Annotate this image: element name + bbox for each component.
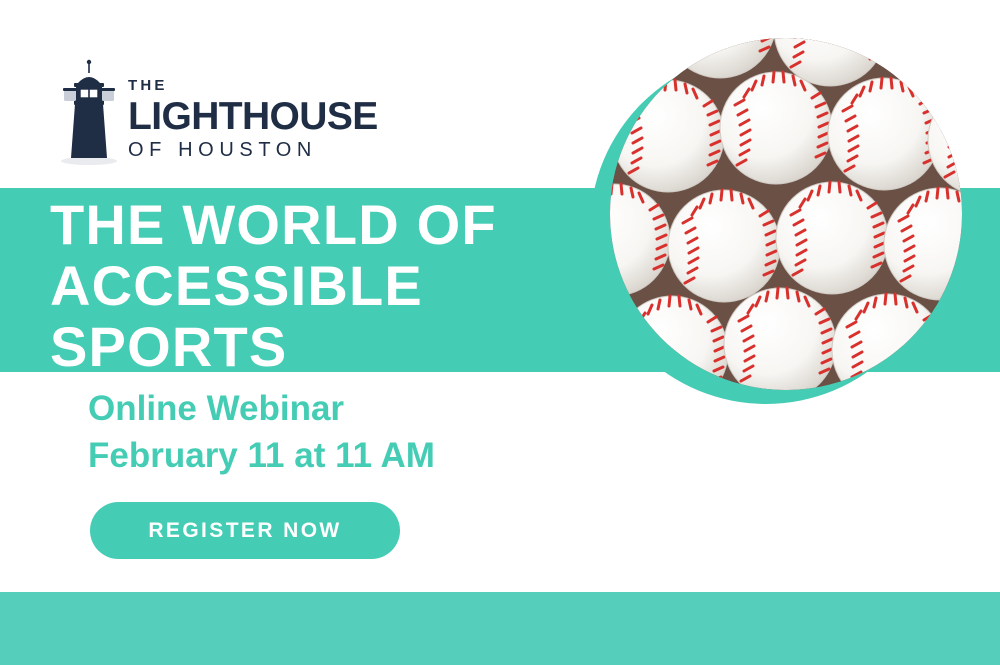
brand-line-of-houston: OF HOUSTON bbox=[128, 140, 378, 160]
headline-line-1: THE WORLD OF bbox=[50, 194, 610, 255]
event-datetime: February 11 at 11 AM bbox=[88, 433, 435, 480]
baseballs-photo bbox=[610, 38, 962, 390]
page-title: THE WORLD OF ACCESSIBLE SPORTS bbox=[50, 194, 610, 377]
footer-teal-band bbox=[0, 592, 1000, 665]
brand-wordmark: THE LIGHTHOUSE OF HOUSTON bbox=[128, 78, 378, 166]
register-now-button[interactable]: REGISTER NOW bbox=[90, 502, 400, 559]
promo-poster: THE LIGHTHOUSE OF HOUSTON bbox=[0, 0, 1000, 665]
headline-line-3: SPORTS bbox=[50, 316, 610, 377]
hero-media bbox=[590, 38, 970, 458]
brand-line-lighthouse: LIGHTHOUSE bbox=[128, 98, 378, 136]
event-format: Online Webinar bbox=[88, 386, 435, 433]
headline-line-2: ACCESSIBLE bbox=[50, 255, 610, 316]
event-details: Online Webinar February 11 at 11 AM bbox=[88, 386, 435, 479]
brand-logo: THE LIGHTHOUSE OF HOUSTON bbox=[58, 58, 378, 166]
lighthouse-icon bbox=[58, 58, 120, 166]
brand-line-the: THE bbox=[128, 78, 378, 93]
